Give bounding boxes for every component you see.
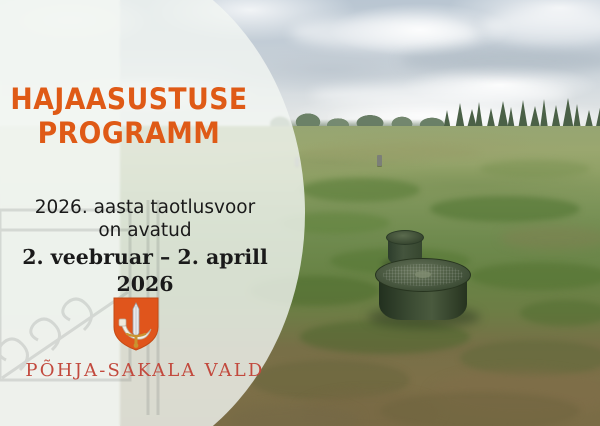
page-title: HAJAASUSTUSE PROGRAMM bbox=[10, 82, 247, 150]
cloud bbox=[290, 18, 480, 48]
title-line-2: PROGRAMM bbox=[10, 116, 247, 150]
grass-patch bbox=[300, 178, 420, 202]
poster-content: HAJAASUSTUSE PROGRAMM 2026. aasta taotlu… bbox=[0, 0, 290, 426]
septic-tank-lid-large bbox=[375, 258, 471, 324]
pipe-marker-post bbox=[377, 155, 382, 166]
poster: HAJAASUSTUSE PROGRAMM 2026. aasta taotlu… bbox=[0, 0, 600, 426]
grass-patch bbox=[480, 160, 590, 178]
subtitle-line-2: on avatud bbox=[98, 220, 191, 241]
grass-patch bbox=[430, 196, 580, 222]
title-line-1: HAJAASUSTUSE bbox=[10, 82, 247, 116]
subtitle-block: 2026. aasta taotlusvoor on avatud 2. vee… bbox=[0, 196, 290, 298]
grass-patch bbox=[470, 262, 600, 290]
soil-patch bbox=[500, 226, 600, 250]
grass-patch bbox=[520, 300, 600, 326]
grass-patch bbox=[380, 392, 580, 426]
tank-lid-hub bbox=[415, 271, 431, 278]
municipality-name: PÕHJA-SAKALA VALD bbox=[0, 360, 290, 381]
coat-of-arms-icon bbox=[113, 297, 159, 351]
subtitle-line-1: 2026. aasta taotlusvoor bbox=[35, 197, 255, 218]
grass-patch bbox=[300, 146, 480, 160]
application-period-dates: 2. veebruar – 2. aprill 2026 bbox=[0, 242, 290, 298]
